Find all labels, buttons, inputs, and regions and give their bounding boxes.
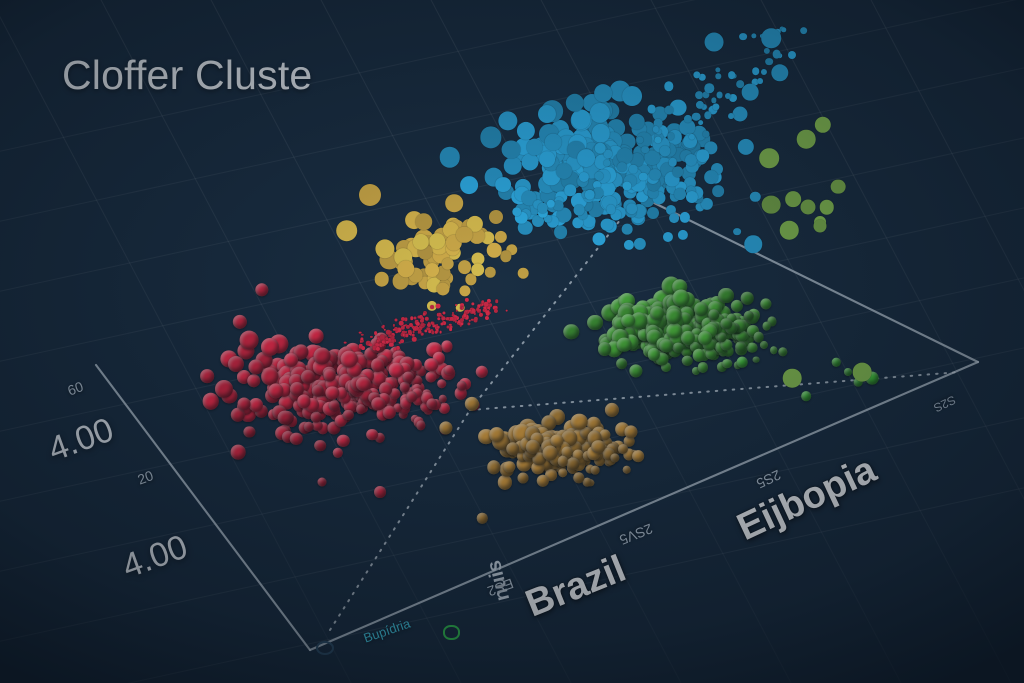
data-point bbox=[678, 230, 688, 240]
data-point bbox=[402, 334, 405, 337]
data-point bbox=[705, 83, 714, 92]
data-point bbox=[545, 134, 562, 151]
data-point bbox=[713, 103, 720, 110]
data-point bbox=[742, 84, 759, 101]
data-point bbox=[469, 319, 472, 322]
data-point bbox=[564, 324, 580, 340]
data-point bbox=[458, 260, 472, 274]
data-point bbox=[698, 362, 708, 372]
data-point bbox=[538, 105, 556, 123]
data-point bbox=[367, 429, 379, 441]
data-point bbox=[703, 131, 710, 138]
data-point bbox=[497, 475, 511, 489]
data-point bbox=[471, 309, 476, 314]
data-point bbox=[760, 341, 768, 349]
data-point bbox=[739, 33, 747, 41]
legend-marker-icon bbox=[443, 625, 460, 640]
data-point bbox=[518, 268, 529, 279]
data-point bbox=[255, 283, 268, 296]
data-point bbox=[628, 113, 645, 130]
data-point bbox=[622, 224, 633, 235]
data-point bbox=[389, 363, 404, 378]
data-point bbox=[778, 347, 787, 356]
data-point bbox=[489, 210, 503, 224]
data-point bbox=[382, 325, 385, 328]
data-point bbox=[505, 309, 508, 312]
data-point bbox=[481, 127, 502, 148]
data-point bbox=[487, 461, 500, 474]
data-point bbox=[506, 442, 520, 456]
data-point bbox=[486, 311, 491, 316]
data-point bbox=[722, 359, 732, 369]
data-point bbox=[752, 67, 760, 75]
data-point bbox=[665, 106, 674, 115]
data-point bbox=[673, 342, 684, 353]
data-point bbox=[328, 400, 339, 411]
data-point bbox=[455, 310, 458, 313]
data-point bbox=[542, 446, 557, 461]
data-point bbox=[647, 105, 656, 114]
data-point bbox=[759, 148, 779, 168]
data-point bbox=[423, 313, 426, 316]
data-point bbox=[705, 33, 724, 52]
data-point bbox=[605, 403, 619, 417]
data-point bbox=[621, 314, 635, 328]
data-point bbox=[587, 315, 603, 331]
data-point bbox=[704, 170, 718, 184]
data-point bbox=[361, 346, 365, 350]
data-point bbox=[760, 298, 771, 309]
data-point bbox=[698, 331, 712, 345]
data-point bbox=[718, 288, 734, 304]
data-point bbox=[473, 317, 478, 322]
data-point bbox=[336, 220, 358, 242]
data-point bbox=[406, 391, 418, 403]
data-point bbox=[771, 64, 788, 81]
data-point bbox=[680, 212, 690, 222]
data-point bbox=[663, 232, 673, 242]
data-point bbox=[426, 327, 430, 331]
data-point bbox=[770, 346, 778, 354]
data-point bbox=[315, 440, 327, 452]
data-point bbox=[591, 466, 600, 475]
data-point bbox=[716, 73, 721, 78]
data-point bbox=[537, 202, 548, 213]
data-point bbox=[733, 107, 748, 122]
data-point bbox=[625, 425, 638, 438]
data-point bbox=[383, 406, 395, 418]
data-point bbox=[601, 218, 614, 231]
data-point bbox=[649, 169, 661, 181]
data-point bbox=[429, 233, 445, 249]
data-point bbox=[694, 302, 708, 316]
data-point bbox=[622, 465, 631, 474]
data-point bbox=[244, 426, 255, 437]
data-point bbox=[498, 111, 517, 130]
data-point bbox=[503, 156, 522, 175]
data-point bbox=[456, 380, 467, 391]
data-point bbox=[290, 432, 303, 445]
data-point bbox=[797, 130, 816, 149]
data-point bbox=[375, 272, 390, 287]
data-point bbox=[715, 67, 720, 72]
data-point bbox=[430, 305, 434, 309]
data-point bbox=[502, 140, 521, 159]
data-point bbox=[650, 306, 664, 320]
data-point bbox=[639, 172, 648, 181]
data-point bbox=[647, 207, 659, 219]
data-point bbox=[444, 365, 454, 375]
data-point bbox=[441, 341, 452, 352]
chart-title: Cloffer Cluste bbox=[62, 52, 312, 99]
data-point bbox=[622, 86, 642, 106]
data-point bbox=[800, 27, 808, 35]
data-point bbox=[616, 358, 628, 370]
data-point bbox=[471, 302, 474, 305]
data-point bbox=[571, 414, 588, 431]
data-point bbox=[664, 82, 673, 91]
data-point bbox=[574, 205, 585, 216]
data-point bbox=[439, 421, 452, 434]
data-point bbox=[766, 58, 774, 66]
data-point bbox=[487, 243, 502, 258]
data-point bbox=[437, 379, 447, 389]
data-point bbox=[233, 315, 247, 329]
data-point bbox=[712, 185, 724, 197]
data-point bbox=[484, 302, 489, 307]
data-point bbox=[641, 146, 649, 154]
data-point bbox=[404, 318, 407, 321]
data-point bbox=[853, 363, 872, 382]
data-point bbox=[761, 28, 781, 48]
data-point bbox=[385, 337, 389, 341]
data-point bbox=[463, 313, 467, 317]
data-point bbox=[489, 427, 505, 443]
data-point bbox=[617, 337, 632, 352]
data-point bbox=[764, 47, 770, 53]
data-point bbox=[801, 200, 816, 215]
data-point bbox=[240, 331, 259, 350]
data-point bbox=[420, 323, 424, 327]
data-point bbox=[537, 475, 549, 487]
data-point bbox=[311, 412, 322, 423]
data-point bbox=[309, 328, 324, 343]
data-point bbox=[323, 369, 336, 382]
data-point bbox=[436, 304, 441, 309]
data-point bbox=[668, 158, 677, 167]
data-point bbox=[592, 232, 605, 245]
data-point bbox=[553, 200, 564, 211]
data-point bbox=[604, 160, 611, 167]
data-point bbox=[637, 137, 644, 144]
data-point bbox=[666, 308, 682, 324]
data-point bbox=[788, 51, 796, 59]
data-point bbox=[356, 404, 366, 414]
data-point bbox=[415, 213, 433, 231]
data-point bbox=[584, 190, 595, 201]
data-point bbox=[477, 513, 488, 524]
data-point bbox=[460, 176, 478, 194]
legend-marker-secondary-icon bbox=[316, 641, 334, 655]
data-point bbox=[728, 113, 734, 119]
data-point bbox=[413, 316, 416, 319]
data-point bbox=[783, 369, 802, 388]
data-point bbox=[202, 393, 219, 410]
data-point bbox=[371, 358, 385, 372]
data-point bbox=[753, 356, 760, 363]
data-point bbox=[333, 448, 343, 458]
data-point bbox=[815, 117, 831, 133]
data-point bbox=[313, 347, 330, 364]
data-point bbox=[495, 230, 507, 242]
data-point bbox=[439, 403, 449, 413]
data-point bbox=[500, 251, 511, 262]
data-point bbox=[437, 317, 440, 320]
data-point bbox=[386, 330, 391, 335]
data-point bbox=[617, 162, 627, 172]
data-point bbox=[692, 113, 701, 122]
data-point bbox=[737, 357, 748, 368]
data-point bbox=[424, 358, 438, 372]
data-point bbox=[590, 102, 610, 122]
data-point bbox=[696, 149, 710, 163]
data-point bbox=[728, 71, 736, 79]
data-point bbox=[372, 397, 386, 411]
data-point bbox=[412, 334, 415, 337]
data-point bbox=[337, 434, 350, 447]
data-point bbox=[479, 313, 483, 317]
data-point bbox=[772, 50, 781, 59]
data-point bbox=[471, 263, 485, 277]
data-point bbox=[752, 33, 757, 38]
data-point bbox=[455, 304, 457, 306]
data-point bbox=[441, 315, 443, 317]
data-point bbox=[781, 27, 786, 32]
data-point bbox=[632, 450, 644, 462]
data-point bbox=[361, 333, 364, 336]
data-point bbox=[437, 283, 450, 296]
data-point bbox=[744, 235, 762, 253]
data-point bbox=[832, 358, 841, 367]
data-point bbox=[674, 188, 686, 200]
data-point bbox=[738, 139, 754, 155]
data-point bbox=[460, 286, 471, 297]
data-point bbox=[634, 238, 646, 250]
data-point bbox=[445, 194, 463, 212]
data-point bbox=[703, 92, 710, 99]
data-point bbox=[425, 316, 429, 320]
data-point bbox=[820, 200, 835, 215]
data-point bbox=[416, 421, 425, 430]
data-point bbox=[556, 163, 572, 179]
data-point bbox=[359, 184, 381, 206]
data-point bbox=[412, 337, 417, 342]
data-point bbox=[374, 331, 378, 335]
data-point bbox=[482, 309, 485, 312]
data-point bbox=[626, 203, 638, 215]
data-point bbox=[447, 326, 450, 329]
data-point bbox=[591, 440, 605, 454]
data-point bbox=[733, 228, 741, 236]
data-point bbox=[438, 395, 447, 404]
data-point bbox=[382, 343, 385, 346]
data-point bbox=[682, 355, 693, 366]
data-point bbox=[439, 330, 442, 333]
data-point bbox=[435, 331, 438, 334]
data-point bbox=[735, 341, 747, 353]
data-point bbox=[595, 143, 606, 154]
data-point bbox=[441, 257, 454, 270]
data-point bbox=[610, 453, 619, 462]
data-point bbox=[231, 445, 246, 460]
data-point bbox=[406, 325, 410, 329]
data-point bbox=[405, 334, 408, 337]
data-point bbox=[277, 410, 292, 425]
data-point bbox=[465, 298, 469, 302]
data-point bbox=[753, 332, 764, 343]
chart-canvas: Cloffer Cluste 4.00 4.00 60 20 Brazil nu… bbox=[0, 0, 1024, 683]
data-point bbox=[813, 219, 826, 232]
data-point bbox=[526, 139, 543, 156]
data-point bbox=[669, 213, 679, 223]
data-point bbox=[757, 78, 763, 84]
data-point bbox=[785, 191, 801, 207]
data-point bbox=[403, 372, 414, 383]
data-point bbox=[762, 322, 771, 331]
data-point bbox=[238, 398, 251, 411]
data-point bbox=[747, 342, 758, 353]
data-point bbox=[517, 122, 535, 140]
data-point bbox=[341, 350, 358, 367]
data-point bbox=[439, 147, 460, 168]
data-point bbox=[594, 172, 603, 181]
data-point bbox=[200, 369, 214, 383]
data-point bbox=[419, 331, 422, 334]
data-point bbox=[750, 191, 760, 201]
data-point bbox=[495, 177, 511, 193]
data-point bbox=[475, 365, 487, 377]
data-point bbox=[318, 478, 327, 487]
data-point bbox=[577, 149, 595, 167]
data-point bbox=[594, 84, 612, 102]
data-point bbox=[762, 195, 781, 214]
data-point bbox=[565, 185, 577, 197]
data-point bbox=[485, 267, 496, 278]
data-point bbox=[780, 221, 799, 240]
data-point bbox=[485, 316, 489, 320]
data-point bbox=[368, 343, 372, 347]
data-point bbox=[551, 434, 564, 447]
data-point bbox=[672, 290, 689, 307]
data-point bbox=[629, 364, 642, 377]
data-point bbox=[395, 318, 398, 321]
data-point bbox=[629, 165, 638, 174]
data-point bbox=[467, 322, 470, 325]
data-point bbox=[517, 472, 528, 483]
data-point bbox=[692, 349, 705, 362]
data-point bbox=[558, 468, 568, 478]
data-point bbox=[801, 391, 811, 401]
data-point bbox=[495, 299, 499, 303]
data-point bbox=[659, 339, 673, 353]
data-point bbox=[761, 69, 767, 75]
data-point bbox=[343, 409, 353, 419]
data-point bbox=[344, 341, 347, 344]
data-point bbox=[399, 321, 404, 326]
data-point bbox=[303, 421, 314, 432]
data-point bbox=[374, 486, 386, 498]
data-point bbox=[554, 225, 568, 239]
data-point bbox=[557, 456, 568, 467]
data-point bbox=[573, 472, 585, 484]
data-point bbox=[598, 342, 612, 356]
data-point bbox=[247, 374, 261, 388]
data-point bbox=[442, 311, 445, 314]
data-point bbox=[425, 263, 439, 277]
data-point bbox=[716, 91, 723, 98]
data-point bbox=[539, 151, 555, 167]
data-point bbox=[624, 240, 634, 250]
data-point bbox=[425, 372, 436, 383]
data-point bbox=[704, 111, 711, 118]
data-point bbox=[844, 368, 852, 376]
data-point bbox=[741, 292, 754, 305]
data-point bbox=[461, 306, 464, 309]
data-point bbox=[504, 461, 515, 472]
data-point bbox=[831, 179, 846, 194]
data-point bbox=[284, 353, 298, 367]
data-point bbox=[400, 339, 404, 343]
